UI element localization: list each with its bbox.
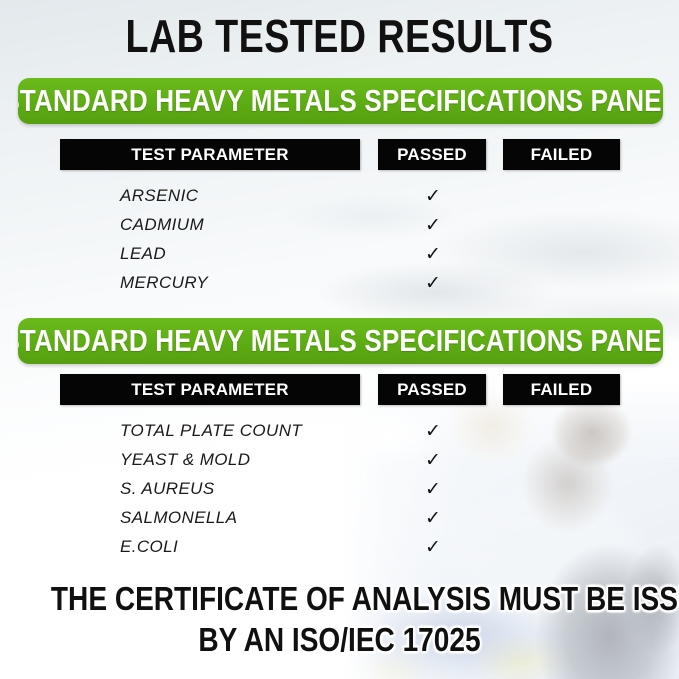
footer-line-2: BY AN ISO/IEC 17025 [51, 619, 628, 660]
column-header-passed-label: PASSED [397, 380, 467, 400]
check-icon: ✓ [420, 534, 446, 560]
lab-results-infographic: LAB TESTED RESULTS STANDARD HEAVY METALS… [0, 0, 679, 679]
row-parameter-label: E.COLI [120, 534, 178, 560]
row-parameter-label: LEAD [120, 241, 166, 267]
footer-line-1: THE CERTIFICATE OF ANALYSIS MUST BE ISSU… [51, 578, 628, 619]
panel-banner-microbial: STANDARD HEAVY METALS SPECIFICATIONS PAN… [18, 318, 663, 364]
panel-banner-label: STANDARD HEAVY METALS SPECIFICATIONS PAN… [18, 323, 663, 359]
row-parameter-label: TOTAL PLATE COUNT [120, 418, 302, 444]
check-icon: ✓ [420, 505, 446, 531]
check-icon: ✓ [420, 241, 446, 267]
table-row: E.COLI ✓ [0, 534, 679, 563]
results-table-heavy-metals: ARSENIC ✓ CADMIUM ✓ LEAD ✓ MERCURY ✓ [0, 183, 679, 299]
panel-banner-label: STANDARD HEAVY METALS SPECIFICATIONS PAN… [18, 83, 663, 119]
results-table-microbial: TOTAL PLATE COUNT ✓ YEAST & MOLD ✓ S. AU… [0, 418, 679, 563]
panel-banner-heavy-metals: STANDARD HEAVY METALS SPECIFICATIONS PAN… [18, 78, 663, 124]
table-row: S. AUREUS ✓ [0, 476, 679, 505]
page-title: LAB TESTED RESULTS [61, 12, 618, 60]
column-header-failed-label: FAILED [531, 145, 593, 165]
column-header-passed: PASSED [378, 374, 486, 405]
column-header-passed: PASSED [378, 139, 486, 170]
check-icon: ✓ [420, 476, 446, 502]
column-header-passed-label: PASSED [397, 145, 467, 165]
check-icon: ✓ [420, 212, 446, 238]
table-row: CADMIUM ✓ [0, 212, 679, 241]
table-row: YEAST & MOLD ✓ [0, 447, 679, 476]
table-row: ARSENIC ✓ [0, 183, 679, 212]
row-parameter-label: YEAST & MOLD [120, 447, 250, 473]
check-icon: ✓ [420, 183, 446, 209]
table-row: LEAD ✓ [0, 241, 679, 270]
column-header-parameter: TEST PARAMETER [60, 139, 360, 170]
check-icon: ✓ [420, 447, 446, 473]
column-header-parameter-label: TEST PARAMETER [131, 145, 288, 165]
table-row: TOTAL PLATE COUNT ✓ [0, 418, 679, 447]
row-parameter-label: MERCURY [120, 270, 208, 296]
row-parameter-label: ARSENIC [120, 183, 198, 209]
infographic-content: LAB TESTED RESULTS STANDARD HEAVY METALS… [0, 0, 679, 679]
row-parameter-label: S. AUREUS [120, 476, 215, 502]
table-row: MERCURY ✓ [0, 270, 679, 299]
table-row: SALMONELLA ✓ [0, 505, 679, 534]
column-header-parameter-label: TEST PARAMETER [131, 380, 288, 400]
column-header-failed: FAILED [503, 374, 620, 405]
column-header-parameter: TEST PARAMETER [60, 374, 360, 405]
row-parameter-label: SALMONELLA [120, 505, 237, 531]
check-icon: ✓ [420, 270, 446, 296]
column-header-failed: FAILED [503, 139, 620, 170]
check-icon: ✓ [420, 418, 446, 444]
column-header-failed-label: FAILED [531, 380, 593, 400]
footer-note: THE CERTIFICATE OF ANALYSIS MUST BE ISSU… [0, 578, 679, 660]
row-parameter-label: CADMIUM [120, 212, 204, 238]
